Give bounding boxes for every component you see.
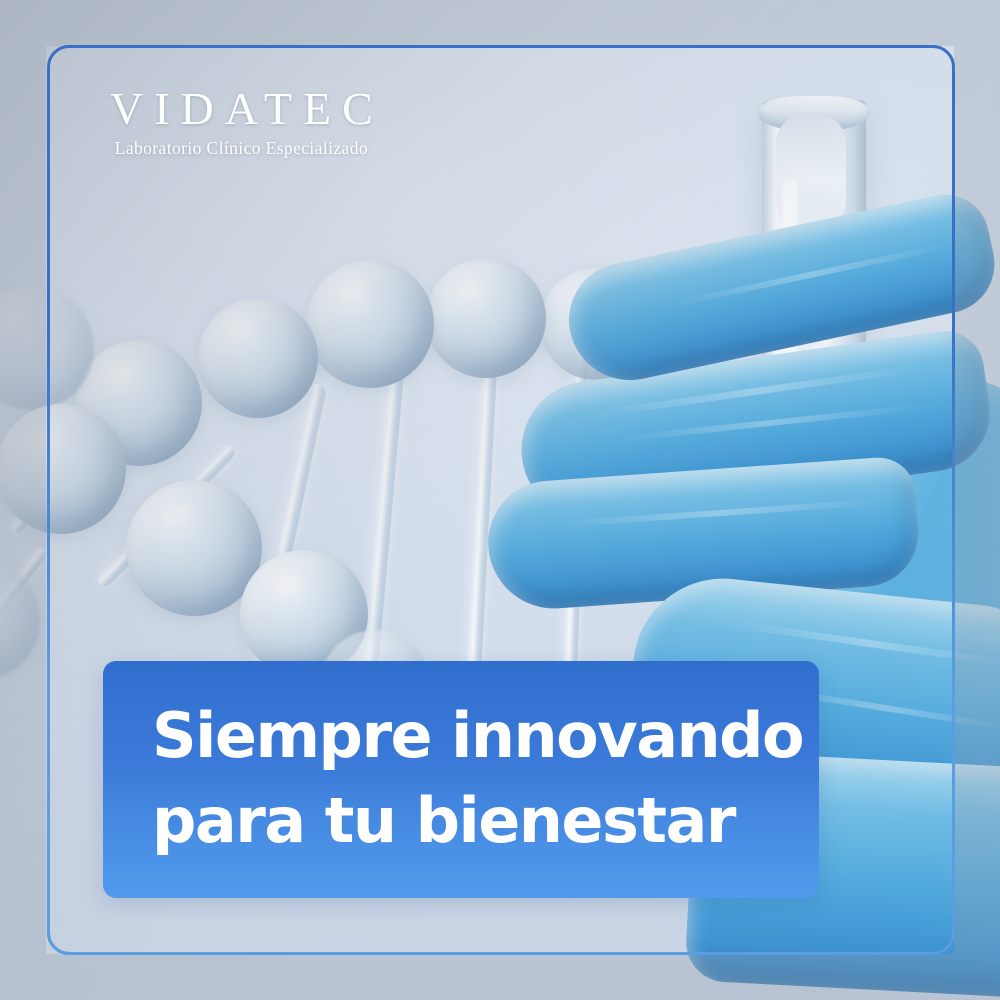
headline-line-1: Siempre innovando (152, 693, 803, 778)
logo-tagline: Laboratorio Clínico Especializado (99, 140, 384, 158)
headline-line-2: para tu bienestar (152, 778, 803, 863)
dna-sphere (198, 298, 318, 418)
headline-banner: Siempre innovando para tu bienestar (103, 661, 819, 898)
logo-wordmark: VIDATEC (99, 86, 384, 132)
poster-canvas: VIDATEC Laboratorio Clínico Especializad… (0, 0, 1000, 1000)
headline-text-block: Siempre innovando para tu bienestar (152, 693, 803, 863)
brand-logo: VIDATEC Laboratorio Clínico Especializad… (99, 86, 384, 158)
dna-sphere (0, 404, 126, 534)
dna-sphere (306, 260, 434, 388)
dna-sphere (0, 560, 40, 680)
